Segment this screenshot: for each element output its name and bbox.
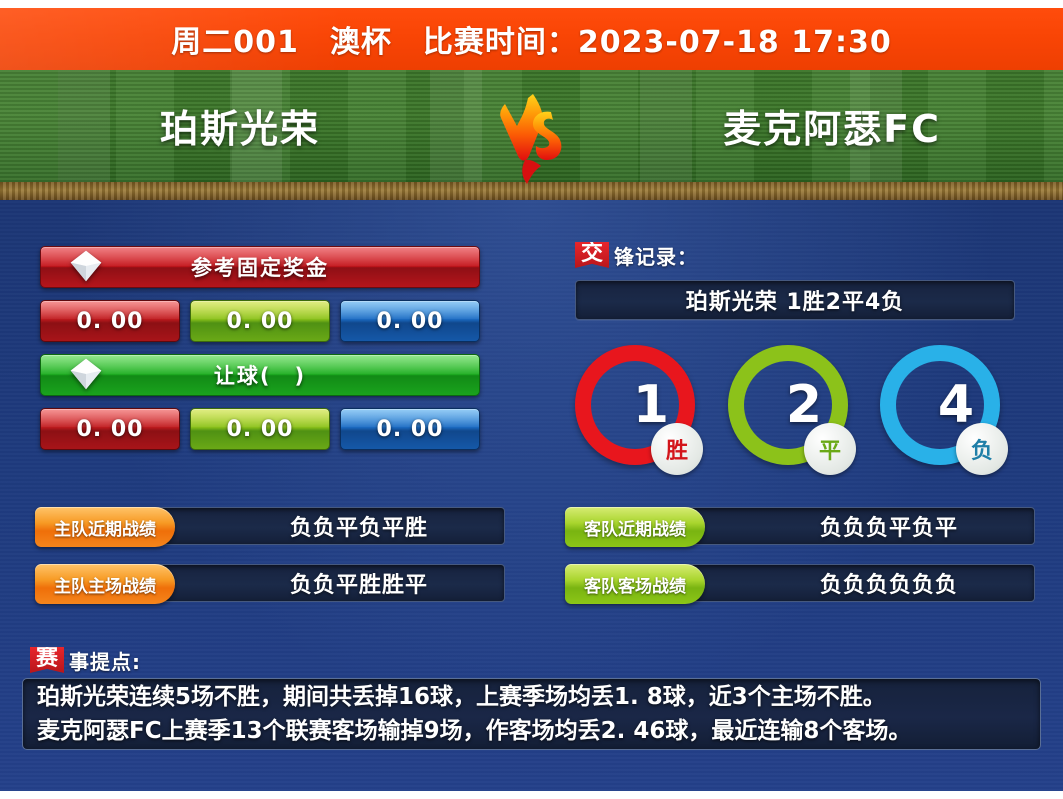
vs-flame-icon	[481, 88, 581, 188]
handicap-home-win[interactable]: 0. 00	[40, 408, 180, 450]
record-row-away-guest: 负负负负负负 客队客场战绩	[565, 562, 1035, 606]
record-value: 负负负负负负	[750, 567, 958, 599]
h2h-ring-loss: 4 负	[880, 345, 1000, 465]
tips-heading: 赛 事提点:	[30, 645, 141, 675]
h2h-ring-draw: 2 平	[728, 345, 848, 465]
record-slot: 负负负平负平	[673, 507, 1035, 545]
odds-value: 0. 00	[377, 309, 444, 334]
record-value: 负负平负平胜	[220, 510, 428, 542]
header-title: 周二001 澳杯 比赛时间：2023-07-18 17:30	[171, 17, 891, 61]
header-bar: 周二001 澳杯 比赛时间：2023-07-18 17:30	[0, 8, 1063, 70]
tips-line-2: 麦克阿瑟FC上赛季13个联赛客场输掉9场，作客场均丢2. 46球，最近连输8个客…	[37, 714, 1026, 748]
record-slot: 负负平胜胜平	[143, 564, 505, 602]
record-badge: 主队近期战绩	[35, 507, 175, 547]
record-value: 负负平胜胜平	[220, 567, 428, 599]
fixed-bonus-title: 参考固定奖金	[191, 252, 329, 282]
record-row-home-host: 负负平胜胜平 主队主场战绩	[35, 562, 505, 606]
handicap-odds-row: 0. 00 0. 00 0. 00	[40, 408, 480, 450]
record-value: 负负负平负平	[750, 510, 958, 542]
tips-line-1: 珀斯光荣连续5场不胜，期间共丢掉16球，上赛季场均丢1. 8球，近3个主场不胜。	[37, 680, 1026, 714]
fixed-bonus-odds-row: 0. 00 0. 00 0. 00	[40, 300, 480, 342]
odds-home-win[interactable]: 0. 00	[40, 300, 180, 342]
diamond-icon	[69, 357, 103, 391]
tips-tag-char: 赛	[30, 647, 64, 673]
h2h-tag-char: 交	[575, 242, 609, 268]
diamond-icon	[69, 249, 103, 283]
h2h-summary-bar: 珀斯光荣 1胜2平4负	[575, 280, 1015, 320]
h2h-loss-label: 负	[956, 423, 1008, 475]
h2h-ring-win: 1 胜	[575, 345, 695, 465]
handicap-header: 让球( )	[40, 354, 480, 396]
odds-value: 0. 00	[227, 417, 294, 442]
handicap-title: 让球( )	[214, 360, 306, 390]
home-team-name: 珀斯光荣	[160, 98, 320, 153]
head-to-head-panel: 交 锋记录： 珀斯光荣 1胜2平4负	[575, 240, 1015, 320]
odds-away-win[interactable]: 0. 00	[340, 300, 480, 342]
tips-box: 珀斯光荣连续5场不胜，期间共丢掉16球，上赛季场均丢1. 8球，近3个主场不胜。…	[22, 678, 1041, 750]
odds-value: 0. 00	[77, 309, 144, 334]
record-row-home-recent: 负负平负平胜 主队近期战绩	[35, 505, 505, 549]
record-slot: 负负平负平胜	[143, 507, 505, 545]
odds-draw[interactable]: 0. 00	[190, 300, 330, 342]
record-badge: 客队近期战绩	[565, 507, 705, 547]
record-slot: 负负负负负负	[673, 564, 1035, 602]
h2h-win-label: 胜	[651, 423, 703, 475]
handicap-away-win[interactable]: 0. 00	[340, 408, 480, 450]
odds-value: 0. 00	[227, 309, 294, 334]
h2h-draw-label: 平	[804, 423, 856, 475]
tips-tag-rest: 事提点:	[69, 646, 141, 675]
odds-value: 0. 00	[377, 417, 444, 442]
h2h-tag-rest: 锋记录：	[614, 241, 698, 270]
h2h-heading: 交 锋记录：	[575, 240, 1015, 270]
record-badge: 客队客场战绩	[565, 564, 705, 604]
match-preview-infographic: 周二001 澳杯 比赛时间：2023-07-18 17:30 珀斯光荣 麦克阿瑟…	[0, 0, 1063, 799]
handicap-draw[interactable]: 0. 00	[190, 408, 330, 450]
odds-panel: 参考固定奖金 0. 00 0. 00 0. 00 让球( ) 0. 00	[40, 246, 480, 462]
away-team-name: 麦克阿瑟FC	[723, 98, 941, 153]
fixed-bonus-header: 参考固定奖金	[40, 246, 480, 288]
odds-value: 0. 00	[77, 417, 144, 442]
record-row-away-recent: 负负负平负平 客队近期战绩	[565, 505, 1035, 549]
record-badge: 主队主场战绩	[35, 564, 175, 604]
h2h-rings: 1 胜 2 平 4 负	[560, 345, 1030, 485]
h2h-summary-text: 珀斯光荣 1胜2平4负	[686, 284, 905, 316]
